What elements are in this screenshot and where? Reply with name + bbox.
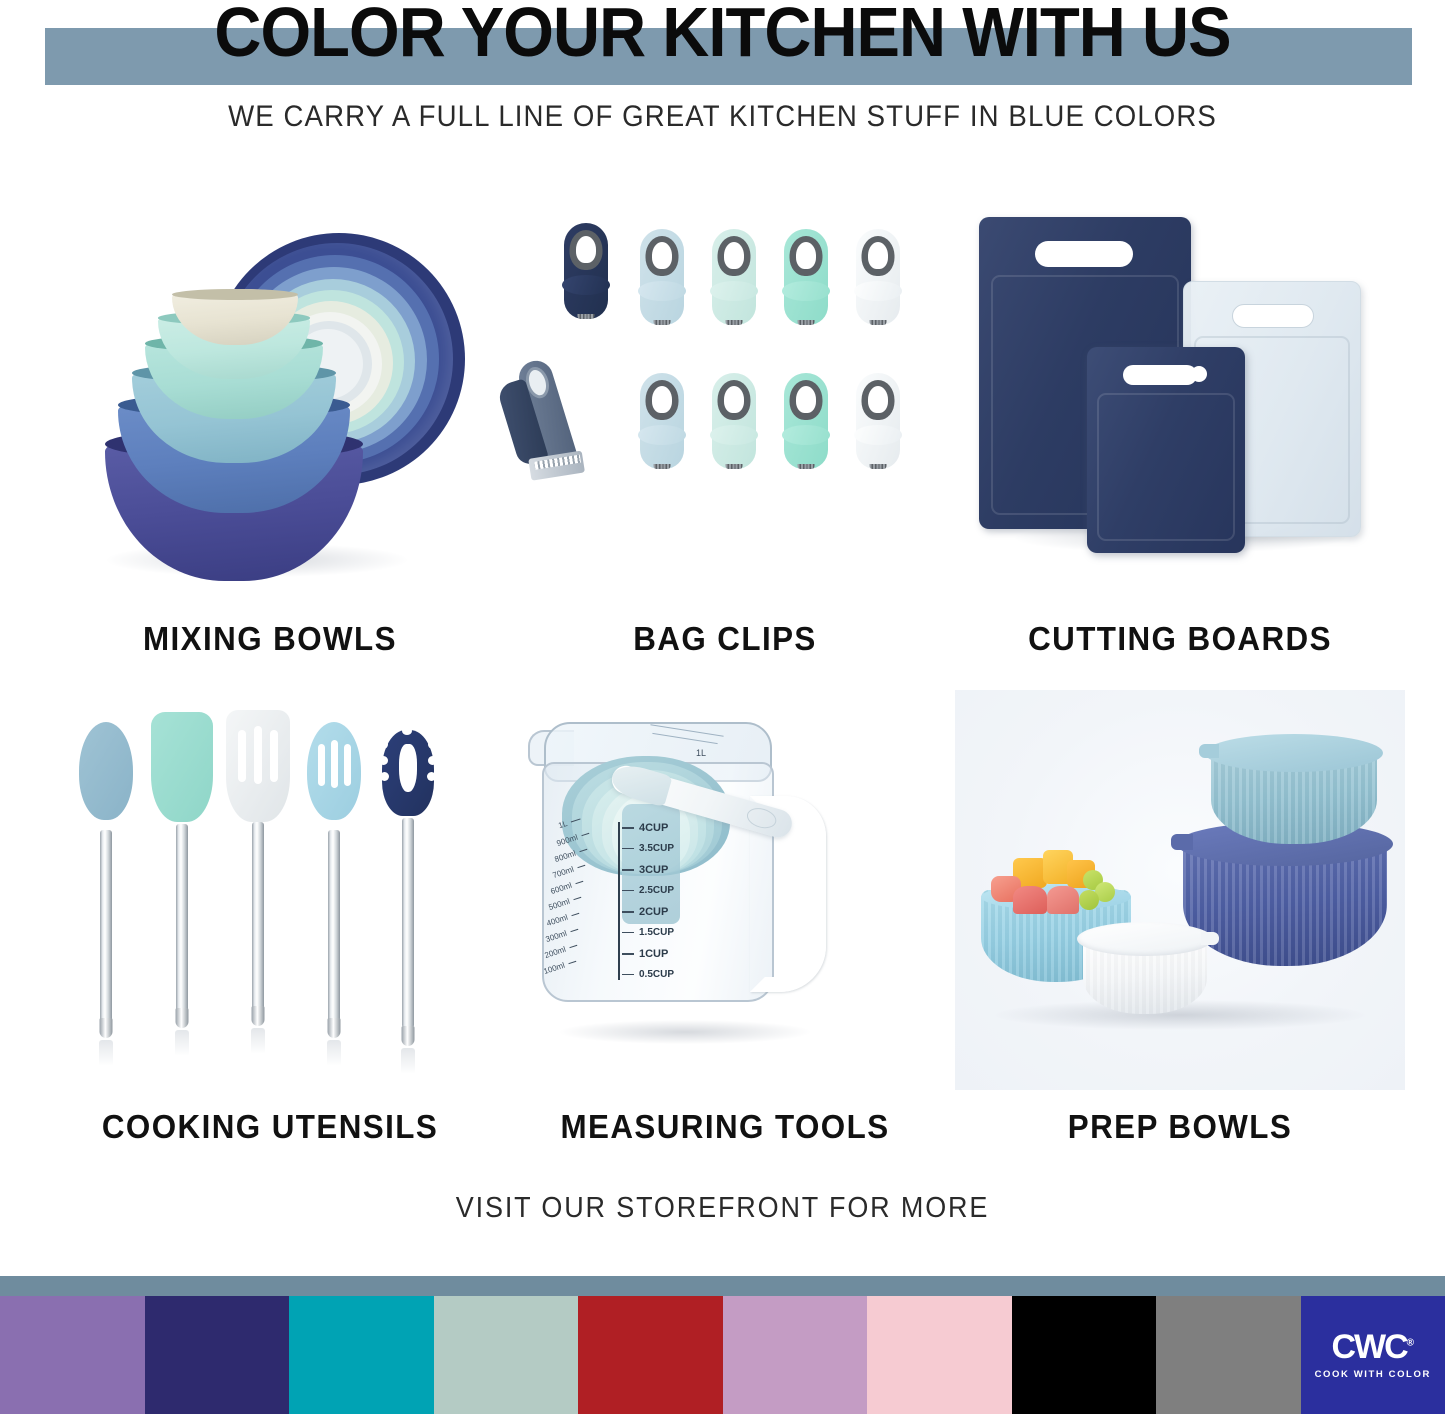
product-label-cutting-boards: CUTTING BOARDS [966, 620, 1394, 658]
cwc-logo-text: CWC [1331, 1328, 1406, 1366]
bag-clip [856, 373, 900, 469]
prep-bowl-white-lid [1077, 922, 1213, 956]
bag-clip [564, 223, 608, 319]
product-label-mixing-bowls: MIXING BOWLS [56, 620, 484, 658]
utensil-spoon [75, 722, 137, 1052]
prep-bowl-light-blue-lid [1205, 734, 1383, 772]
swatch-red [578, 1296, 723, 1414]
swatch-navy [145, 1296, 290, 1414]
swatch-black [1012, 1296, 1157, 1414]
product-grid: MIXING BOWLS [0, 180, 1445, 1180]
product-cell-mixing-bowls[interactable]: MIXING BOWLS [45, 205, 495, 685]
bag-clip [640, 373, 684, 469]
product-label-measuring-tools: MEASURING TOOLS [511, 1108, 939, 1146]
product-cell-prep-bowls[interactable]: PREP BOWLS [955, 700, 1405, 1180]
swatch-teal [289, 1296, 434, 1414]
swatch-pink [867, 1296, 1012, 1414]
bag-clip [784, 373, 828, 469]
swatch-gray [1156, 1296, 1301, 1414]
swatch-purple [0, 1296, 145, 1414]
color-swatch-strip: CWC® COOK WITH COLOR [0, 1296, 1445, 1414]
utensil-slotted-turner [227, 710, 289, 1040]
cwc-logo-tagline: COOK WITH COLOR [1315, 1369, 1431, 1380]
utensil-spatula [151, 712, 213, 1042]
bag-clip [712, 373, 756, 469]
bag-clip-side-view [490, 342, 636, 508]
registered-trademark-icon: ® [1407, 1338, 1414, 1349]
product-label-bag-clips: BAG CLIPS [511, 620, 939, 658]
bag-clip [784, 229, 828, 325]
product-cell-cooking-utensils[interactable]: COOKING UTENSILS [45, 700, 495, 1180]
storefront-cta[interactable]: VISIT OUR STOREFRONT FOR MORE [51, 1192, 1395, 1225]
swatch-divider-bar [0, 1276, 1445, 1296]
bag-clip [640, 229, 684, 325]
page-title: COLOR YOUR KITCHEN WITH US [51, 0, 1395, 72]
cwc-logo-mark: CWC® [1331, 1330, 1414, 1364]
product-label-cooking-utensils: COOKING UTENSILS [56, 1108, 484, 1146]
product-cell-cutting-boards[interactable]: CUTTING BOARDS [955, 205, 1405, 685]
cutting-board-medium [1087, 347, 1245, 553]
utensil-slotted-spoon [303, 722, 365, 1052]
product-infographic: COLOR YOUR KITCHEN WITH US WE CARRY A FU… [0, 0, 1445, 1414]
page-subtitle: WE CARRY A FULL LINE OF GREAT KITCHEN ST… [58, 100, 1387, 134]
utensil-pasta-server [377, 730, 439, 1060]
lid-capacity-label: 1L [696, 748, 706, 758]
swatch-mauve [723, 1296, 868, 1414]
bag-clip [712, 229, 756, 325]
bag-clip [856, 229, 900, 325]
product-label-prep-bowls: PREP BOWLS [966, 1108, 1394, 1146]
brand-logo-block[interactable]: CWC® COOK WITH COLOR [1301, 1296, 1445, 1414]
product-cell-bag-clips[interactable]: BAG CLIPS [500, 205, 950, 685]
swatch-sage [434, 1296, 579, 1414]
product-cell-measuring-tools[interactable]: 1L [500, 700, 950, 1180]
